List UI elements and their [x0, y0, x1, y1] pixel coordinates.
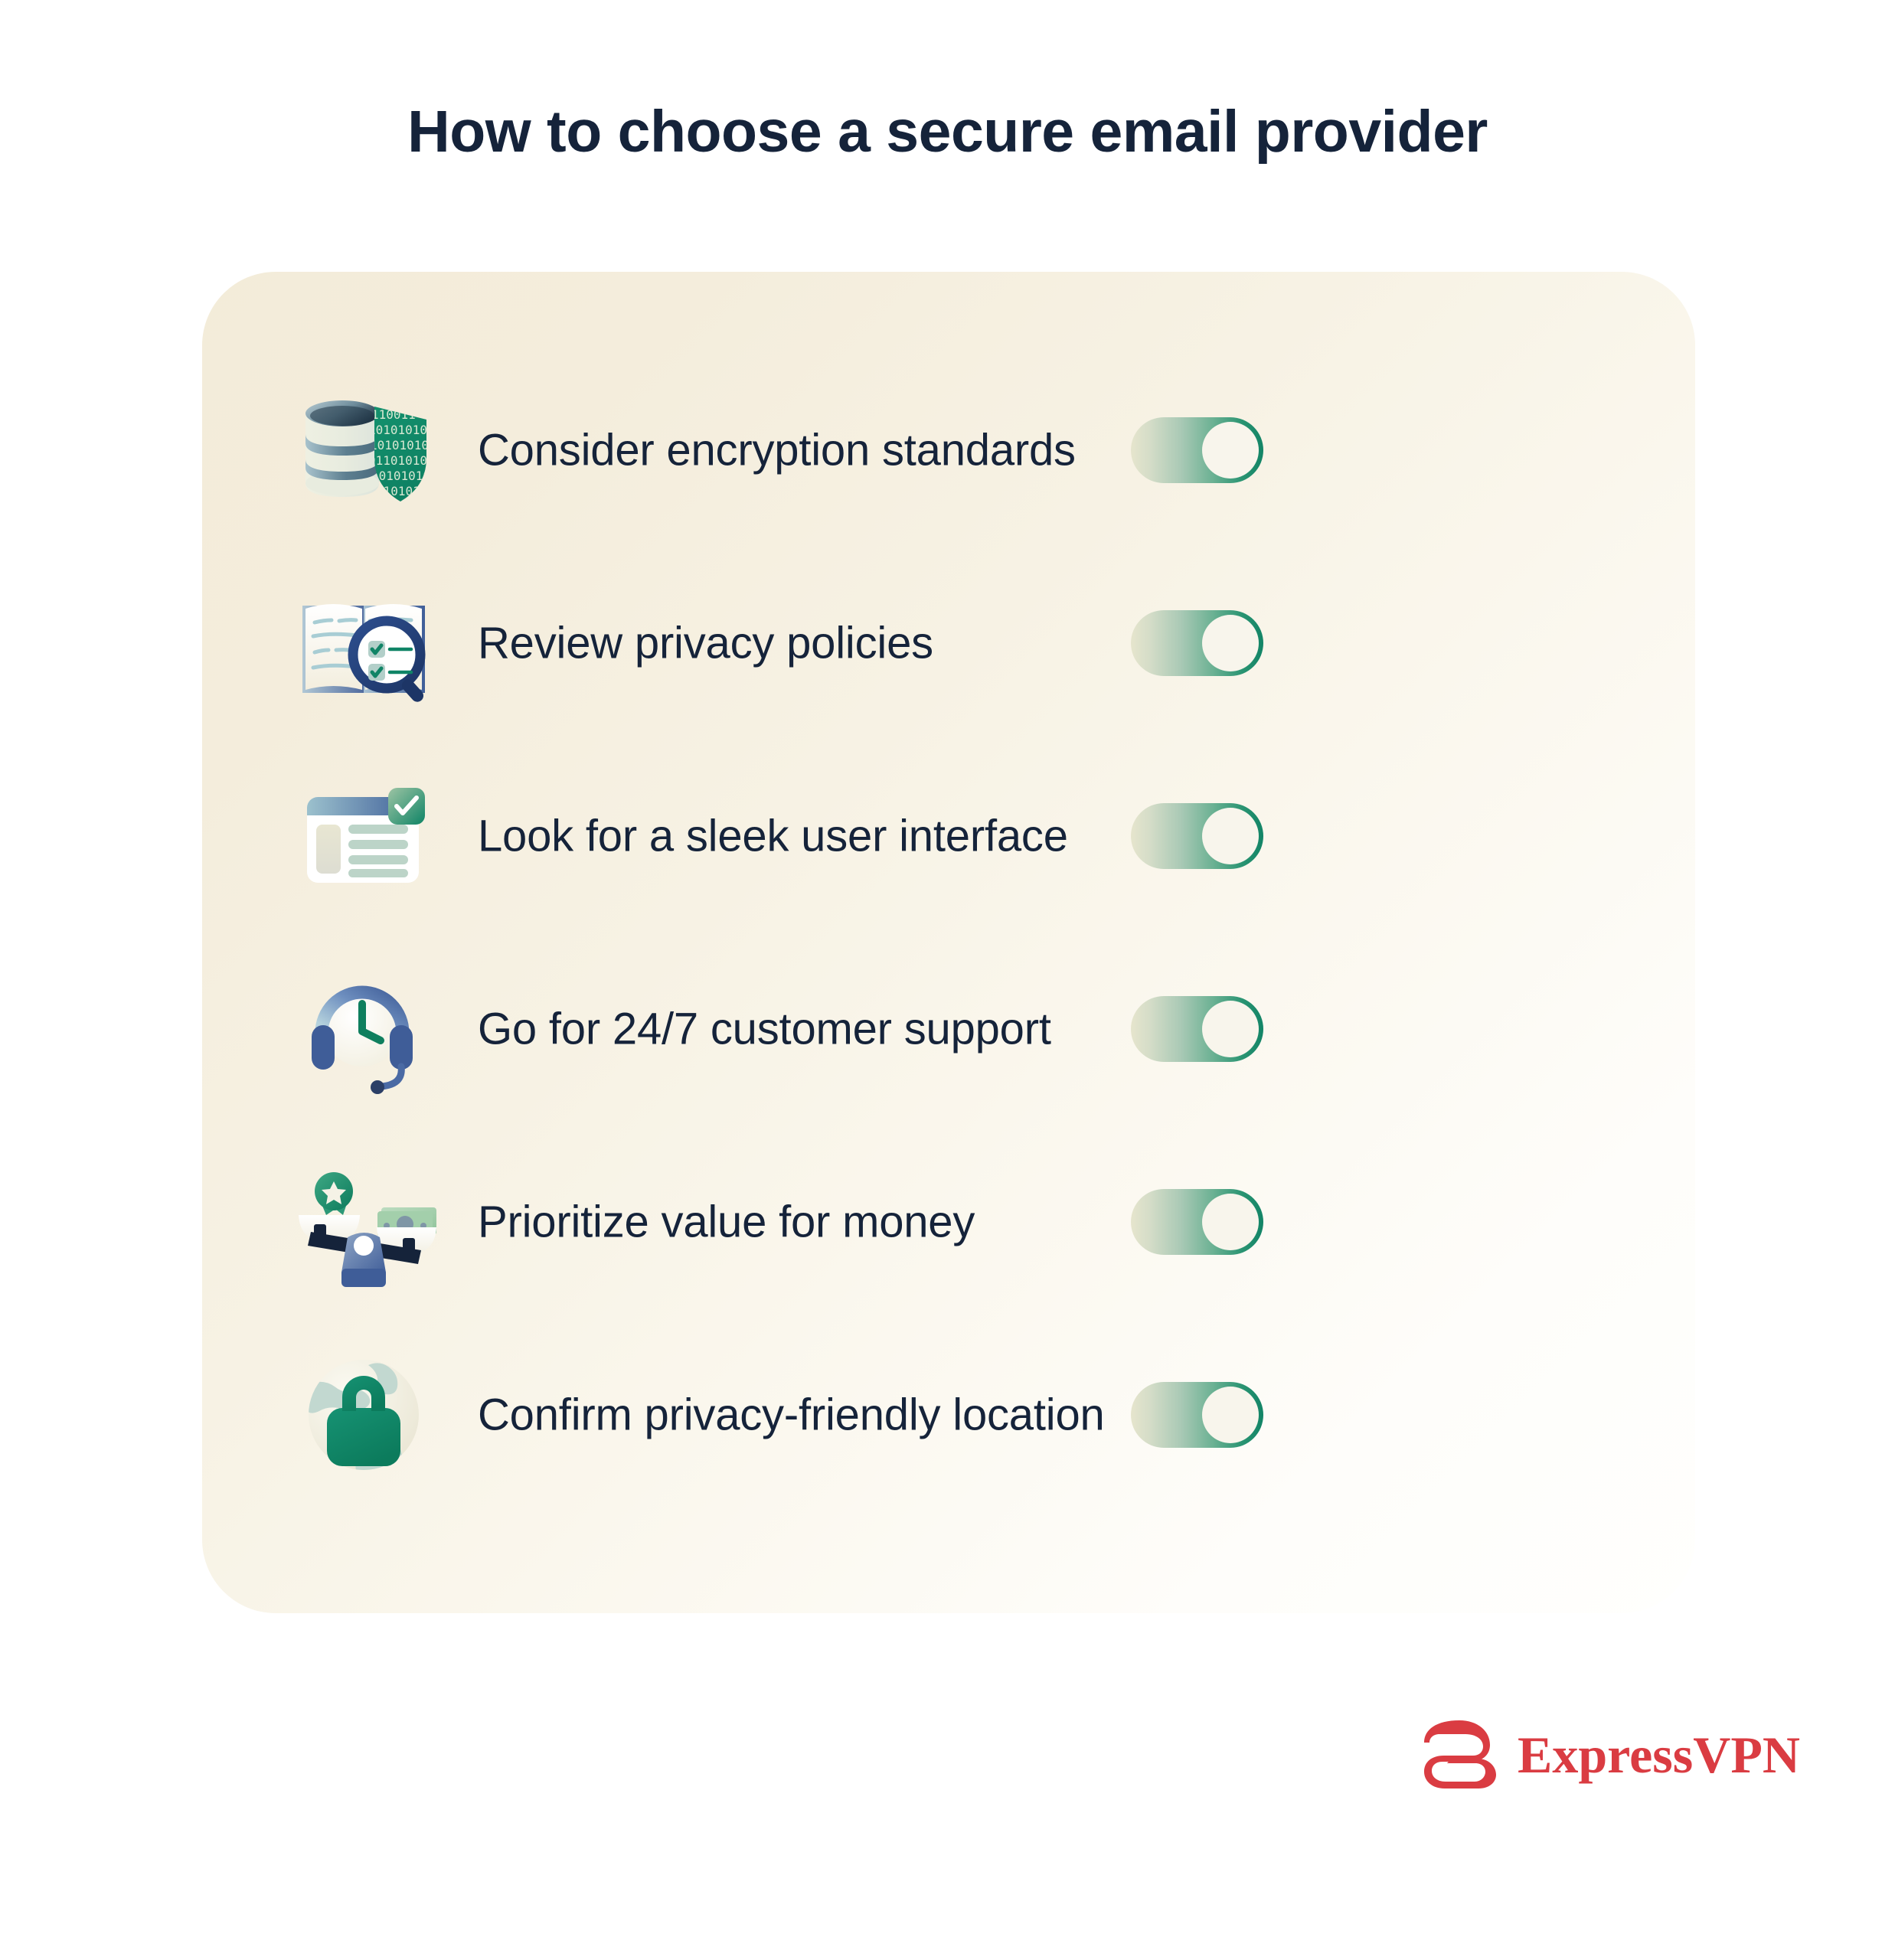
toggle-look-for-a-sleek-user-interface[interactable]: [1131, 803, 1263, 869]
list-item: Look for a sleek user interface: [202, 763, 1695, 909]
balance-scale-award-money-icon: [290, 1157, 437, 1287]
expressvpn-logo: ExpressVPN: [1424, 1716, 1800, 1793]
globe-padlock-icon: [290, 1350, 437, 1480]
checklist: 110011 101010101011 10101010000 01101010…: [202, 272, 1695, 1613]
svg-text:1101010: 1101010: [376, 484, 427, 498]
list-item-label: Look for a sleek user interface: [478, 811, 1068, 862]
list-item: Review privacy policies: [202, 570, 1695, 716]
list-item: 110011 101010101011 10101010000 01101010…: [202, 377, 1695, 523]
toggle-review-privacy-policies[interactable]: [1131, 610, 1263, 676]
list-item: Confirm privacy-friendly location: [202, 1342, 1695, 1488]
toggle-knob: [1202, 615, 1259, 671]
svg-text:10101010000: 10101010000: [370, 438, 433, 452]
toggle-knob: [1202, 808, 1259, 864]
ui-window-check-icon: [290, 771, 437, 901]
list-item-label: Go for 24/7 customer support: [478, 1004, 1051, 1055]
database-shield-binary-icon: 110011 101010101011 10101010000 01101010…: [290, 385, 437, 515]
checklist-card: 110011 101010101011 10101010000 01101010…: [202, 272, 1695, 1613]
toggle-consider-encryption-standards[interactable]: [1131, 417, 1263, 483]
list-item: Go for 24/7 customer support: [202, 956, 1695, 1102]
list-item-label: Prioritize value for money: [478, 1197, 975, 1248]
book-magnifier-checklist-icon: [290, 578, 437, 708]
page-title: How to choose a secure email provider: [0, 98, 1895, 166]
toggle-knob: [1202, 1194, 1259, 1250]
toggle-prioritize-value-for-money[interactable]: [1131, 1189, 1263, 1255]
toggle-knob: [1202, 1387, 1259, 1443]
list-item-label: Consider encryption standards: [478, 425, 1076, 476]
list-item: Prioritize value for money: [202, 1149, 1695, 1295]
toggle-knob: [1202, 422, 1259, 479]
svg-text:0110101010110: 0110101010110: [368, 453, 433, 468]
toggle-knob: [1202, 1001, 1259, 1057]
list-item-label: Confirm privacy-friendly location: [478, 1390, 1105, 1441]
headset-clock-icon: [290, 964, 437, 1094]
expressvpn-logo-icon: [1424, 1716, 1501, 1793]
svg-text:10101010010: 10101010010: [371, 469, 433, 483]
toggle-confirm-privacy-friendly-location[interactable]: [1131, 1382, 1263, 1448]
brand-name: ExpressVPN: [1518, 1729, 1800, 1781]
svg-text:110011: 110011: [371, 407, 416, 422]
list-item-label: Review privacy policies: [478, 618, 933, 669]
toggle-go-for-24-7-customer-support[interactable]: [1131, 996, 1263, 1062]
svg-text:101010101011: 101010101011: [368, 423, 433, 437]
